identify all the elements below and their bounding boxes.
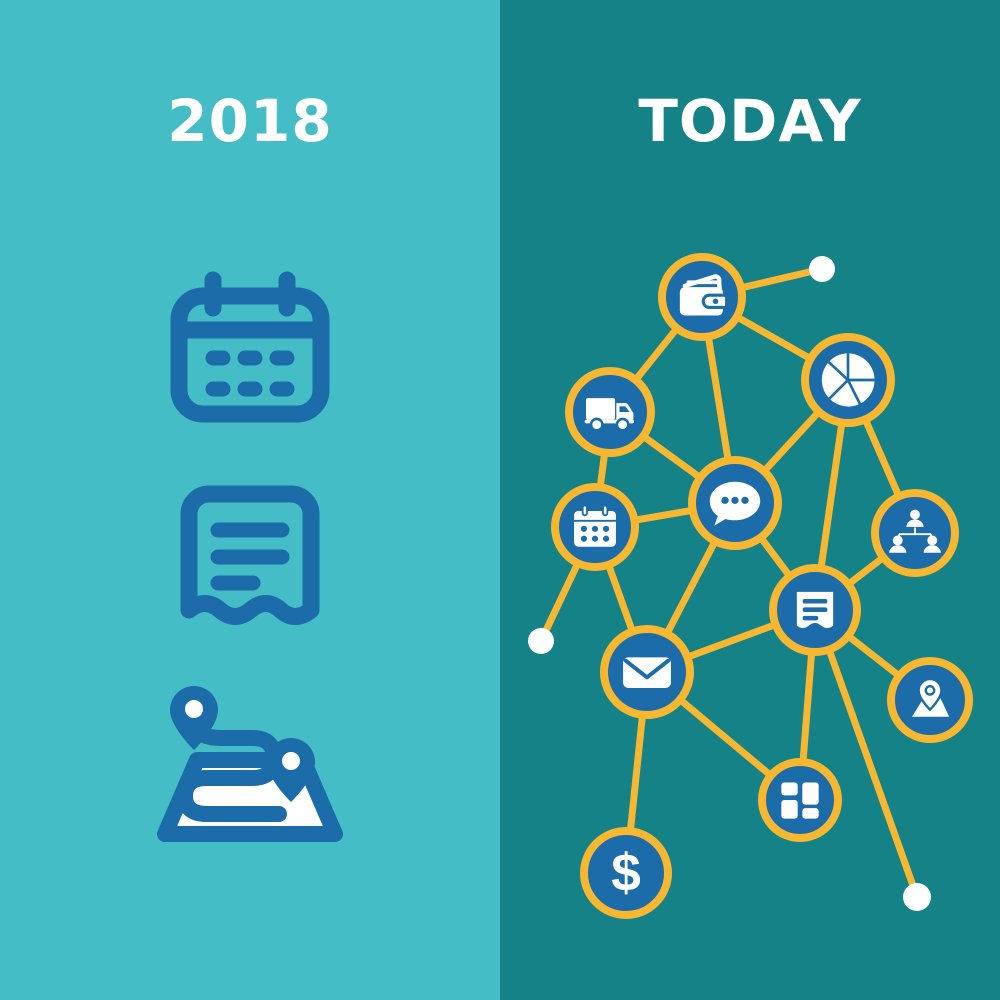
endpoint-dot (809, 256, 835, 282)
receipt-icon (175, 480, 325, 635)
network-node-document[interactable] (773, 568, 857, 652)
network-node-org[interactable] (875, 493, 955, 573)
network-node-dollar[interactable] (584, 831, 668, 915)
map-route-icon (135, 676, 365, 846)
calendar-icon (574, 505, 616, 546)
calendar-icon (165, 268, 335, 428)
comparison-infographic: 2018 (0, 0, 1000, 1000)
network-node-pie[interactable] (805, 337, 891, 423)
network-node-chat[interactable] (692, 460, 778, 546)
network-node-calendar[interactable] (555, 487, 635, 567)
left-map-route-icon-wrap (0, 676, 500, 846)
left-calendar-icon-wrap (0, 268, 500, 428)
network-node-wallet[interactable] (662, 257, 742, 337)
network-graph: $ (500, 0, 1000, 1000)
wallet-icon (680, 276, 727, 315)
network-graph-svg: $ (500, 0, 1000, 1000)
node-circle (762, 762, 838, 838)
network-node-location[interactable] (891, 661, 969, 739)
network-node-truck[interactable] (569, 371, 651, 453)
pie-chart-icon (822, 353, 875, 406)
left-panel-title: 2018 (0, 92, 500, 150)
left-receipt-icon-wrap (0, 480, 500, 635)
envelope-icon (623, 657, 671, 688)
endpoint-dot (528, 628, 554, 654)
left-panel-2018: 2018 (0, 0, 500, 1000)
endpoint-dot (903, 883, 931, 911)
dollar-sign-icon (611, 844, 641, 903)
network-node-grid[interactable] (762, 762, 838, 838)
receipt-icon (797, 592, 833, 628)
network-node-mail[interactable] (604, 629, 690, 715)
